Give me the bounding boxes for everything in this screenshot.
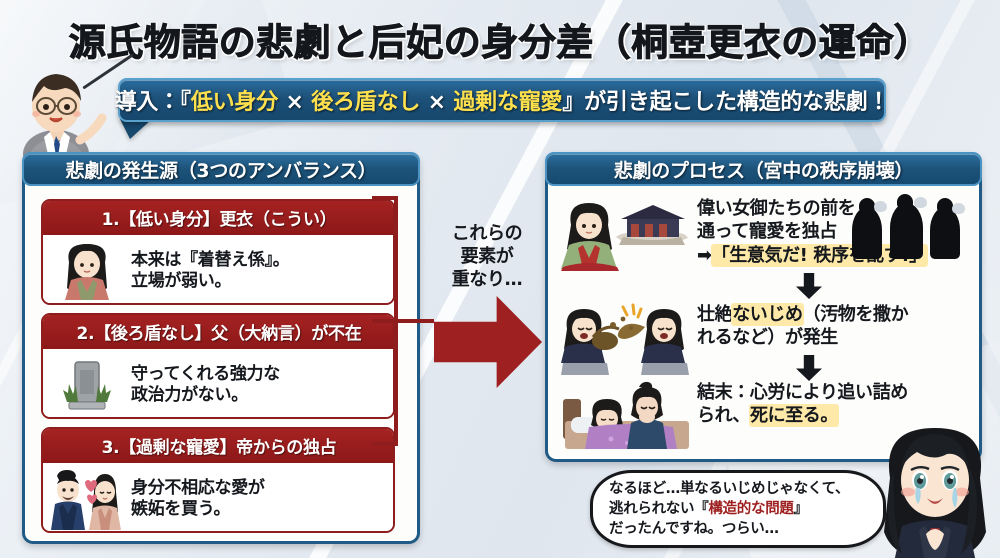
left-panel: 悲劇の発生源（3つのアンバランス） 1.【低い身分】更衣（こうい） bbox=[22, 152, 420, 544]
middle-connector-text: これらの 要素が 重なり… bbox=[432, 222, 542, 291]
process-step-2-line1: 壮絶ないじめ（汚物を撒か bbox=[697, 303, 908, 326]
court-ladies-silhouette-icon bbox=[848, 197, 966, 259]
process-step-2-highlight: ないじめ bbox=[732, 304, 802, 325]
deathbed-icon bbox=[561, 381, 691, 455]
teacher-character bbox=[6, 58, 110, 166]
process-step-2-pre: 壮絶 bbox=[697, 304, 732, 325]
student-speech-text: なるほど…単なるいじめじゃなくて、 逃れられない『構造的な問題』 だったんですね… bbox=[609, 479, 849, 539]
bubble-line-3: だったんですね。つらい… bbox=[609, 519, 849, 539]
bubble-line-1: なるほど…単なるいじめじゃなくて、 bbox=[609, 479, 849, 499]
process-step-1-arrow-glyph: ➡ bbox=[697, 245, 712, 266]
intro-keyword-1: 低い身分 bbox=[191, 90, 278, 115]
page-title: 源氏物語の悲劇と后妃の身分差（桐壺更衣の運命） bbox=[0, 12, 1000, 66]
left-panel-header-label: 悲劇の発生源（3つのアンバランス） bbox=[66, 156, 377, 183]
intro-sep-2: × bbox=[420, 90, 453, 115]
imbalance-item-2: 2.【後ろ盾なし】父（大納言）が不在 守ってくれる強力な 政治力がない。 bbox=[41, 313, 395, 419]
student-character bbox=[872, 422, 998, 558]
imbalance-item-3-line1: 身分不相応な愛が bbox=[131, 478, 265, 499]
infographic-canvas: 源氏物語の悲劇と后妃の身分差（桐壺更衣の運命） 導入：『低い身分 × 後ろ盾なし… bbox=[0, 0, 1000, 558]
emperor-couple-icon bbox=[49, 468, 125, 530]
imbalance-item-2-line1: 守ってくれる強力な bbox=[131, 364, 280, 385]
intro-banner-tail bbox=[120, 119, 152, 139]
imbalance-item-2-line2: 政治力がない。 bbox=[131, 385, 280, 406]
process-step-2: 壮絶ないじめ（汚物を撒か れるなど）が発生 bbox=[561, 303, 971, 379]
imbalance-item-2-text: 守ってくれる強力な 政治力がない。 bbox=[131, 364, 280, 407]
process-step-2-post: （汚物を撒か bbox=[803, 304, 909, 325]
imbalance-item-3-header: 3.【過剰な寵愛】帝からの独占 bbox=[43, 429, 393, 463]
imbalance-item-2-header: 2.【後ろ盾なし】父（大納言）が不在 bbox=[43, 315, 393, 349]
bubble-line-2-pre: 逃れられない『 bbox=[609, 501, 708, 517]
imbalance-item-3-body: 身分不相応な愛が 嫉妬を買う。 bbox=[43, 463, 393, 533]
intro-banner-text: 導入：『低い身分 × 後ろ盾なし × 過剰な寵愛』が引き起こした構造的な悲劇！ bbox=[115, 84, 890, 116]
process-step-2-line2: れるなど）が発生 bbox=[697, 326, 908, 349]
imbalance-item-1: 1.【低い身分】更衣（こうい） 本来は『着替え係』。 bbox=[41, 199, 395, 305]
imbalance-item-1-line2: 立場が弱い。 bbox=[131, 271, 290, 292]
middle-line-1: これらの bbox=[432, 222, 542, 245]
intro-sep-1: × bbox=[278, 90, 311, 115]
gravestone-icon bbox=[49, 354, 125, 416]
left-panel-header: 悲劇の発生源（3つのアンバランス） bbox=[22, 152, 420, 186]
process-step-3-highlight: 死に至る。 bbox=[750, 405, 838, 426]
bubble-keyword: 構造的な問題 bbox=[708, 501, 793, 517]
intro-suffix: 』が引き起こした構造的な悲劇！ bbox=[562, 90, 889, 115]
bubble-line-2: 逃れられない『構造的な問題』 bbox=[609, 499, 849, 519]
student-speech-bubble: なるほど…単なるいじめじゃなくて、 逃れられない『構造的な問題』 だったんですね… bbox=[590, 470, 886, 548]
right-panel: 悲劇のプロセス（宮中の秩序崩壊） bbox=[545, 152, 982, 462]
middle-line-3: 重なり… bbox=[432, 268, 542, 291]
middle-line-2: 要素が bbox=[432, 245, 542, 268]
right-panel-header-label: 悲劇のプロセス（宮中の秩序崩壊） bbox=[614, 156, 913, 183]
process-step-3-line1: 結末：心労により追い詰め bbox=[697, 381, 908, 404]
imbalance-item-3-text: 身分不相応な愛が 嫉妬を買う。 bbox=[131, 478, 265, 521]
imbalance-item-2-body: 守ってくれる強力な 政治力がない。 bbox=[43, 349, 393, 419]
down-arrow-icon-1 bbox=[796, 273, 822, 299]
process-step-3-text: 結末：心労により追い詰め られ、死に至る。 bbox=[697, 381, 908, 428]
right-panel-header: 悲劇のプロセス（宮中の秩序崩壊） bbox=[545, 152, 982, 186]
intro-banner: 導入：『低い身分 × 後ろ盾なし × 過剰な寵愛』が引き起こした構造的な悲劇！ bbox=[118, 78, 886, 122]
intro-keyword-2: 後ろ盾なし bbox=[311, 90, 420, 115]
process-step-2-text: 壮絶ないじめ（汚物を撒か れるなど）が発生 bbox=[697, 303, 908, 350]
intro-keyword-3: 過剰な寵愛 bbox=[453, 90, 562, 115]
imbalance-item-1-body: 本来は『着替え係』。 立場が弱い。 bbox=[43, 235, 393, 305]
imbalance-item-3-line2: 嫉妬を買う。 bbox=[131, 499, 265, 520]
imbalance-item-1-text: 本来は『着替え係』。 立場が弱い。 bbox=[131, 250, 290, 293]
court-lady-icon bbox=[49, 240, 125, 302]
process-step-3-pre: られ、 bbox=[697, 405, 750, 426]
imbalance-item-3: 3.【過剰な寵愛】帝からの独占 bbox=[41, 427, 395, 533]
bubble-line-2-post: 』 bbox=[794, 501, 808, 517]
intro-prefix: 導入：『 bbox=[115, 90, 191, 115]
imbalance-item-1-line1: 本来は『着替え係』。 bbox=[131, 250, 290, 271]
bullying-icon bbox=[561, 303, 691, 379]
palace-lady-icon bbox=[561, 197, 691, 275]
imbalance-item-1-header: 1.【低い身分】更衣（こうい） bbox=[43, 201, 393, 235]
